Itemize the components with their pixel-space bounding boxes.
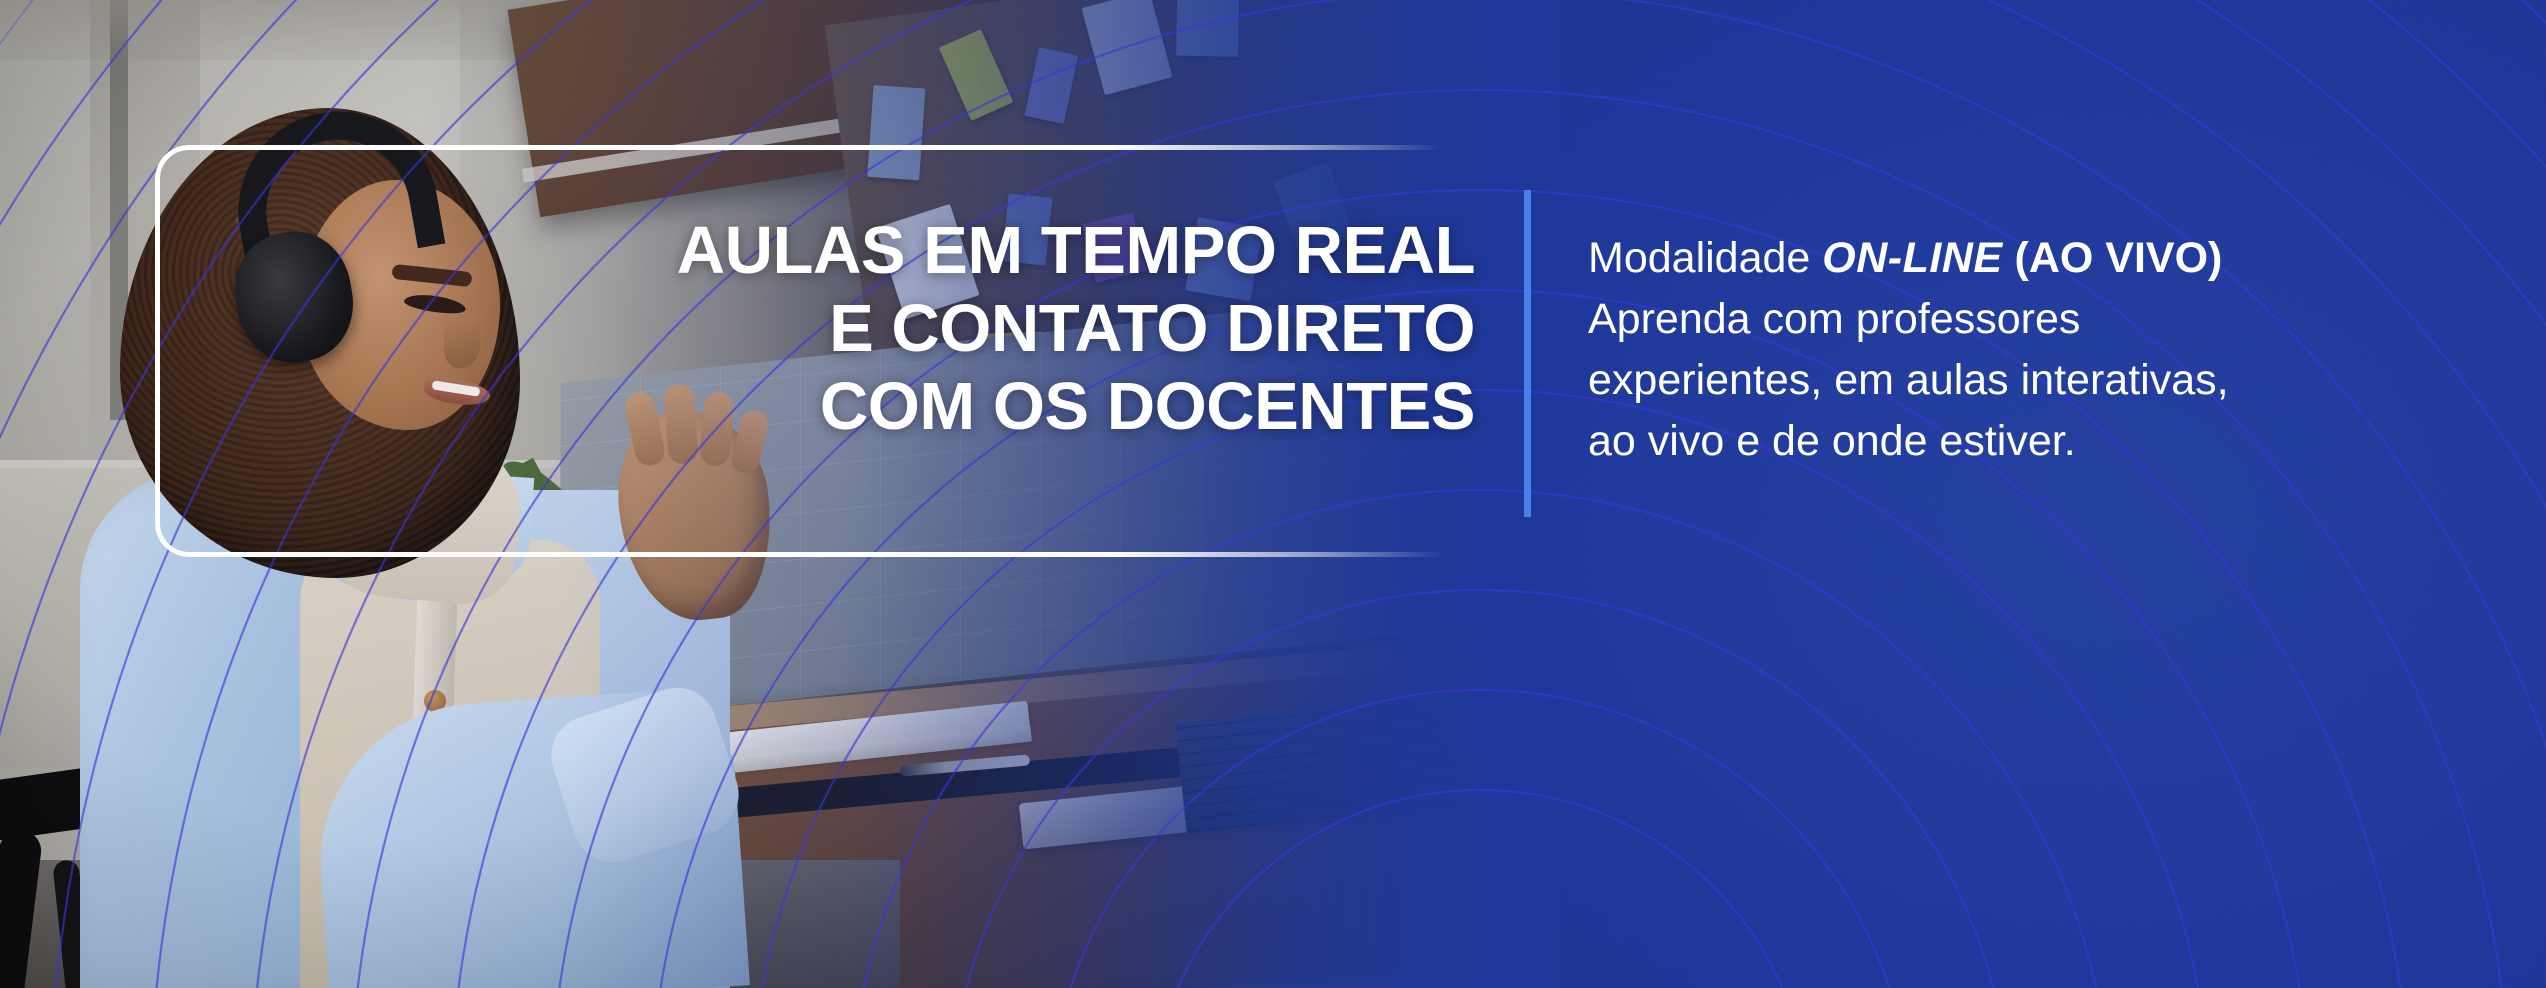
- subcopy-lead: Modalidade ON-LINE (AO VIVO): [1588, 228, 2418, 289]
- subcopy-lead-suffix: (AO VIVO): [2003, 234, 2223, 282]
- subcopy-body-line-2: experientes, em aulas interativas,: [1588, 350, 2418, 411]
- headline: AULAS EM TEMPO REAL E CONTATO DIRETO COM…: [400, 212, 1475, 446]
- subcopy-body-line-3: ao vivo e de onde estiver.: [1588, 411, 2418, 472]
- subcopy-body-line-1: Aprenda com professores: [1588, 289, 2418, 350]
- subcopy: Modalidade ON-LINE (AO VIVO) Aprenda com…: [1588, 228, 2418, 472]
- headline-line-3: COM OS DOCENTES: [400, 368, 1475, 446]
- subcopy-lead-prefix: Modalidade: [1588, 234, 1822, 282]
- vertical-divider: [1524, 190, 1531, 517]
- subcopy-lead-emphasis: ON-LINE: [1822, 234, 2002, 282]
- headline-line-1: AULAS EM TEMPO REAL: [400, 212, 1475, 290]
- headline-line-2: E CONTATO DIRETO: [400, 290, 1475, 368]
- hero-banner: AULAS EM TEMPO REAL E CONTATO DIRETO COM…: [0, 0, 2546, 988]
